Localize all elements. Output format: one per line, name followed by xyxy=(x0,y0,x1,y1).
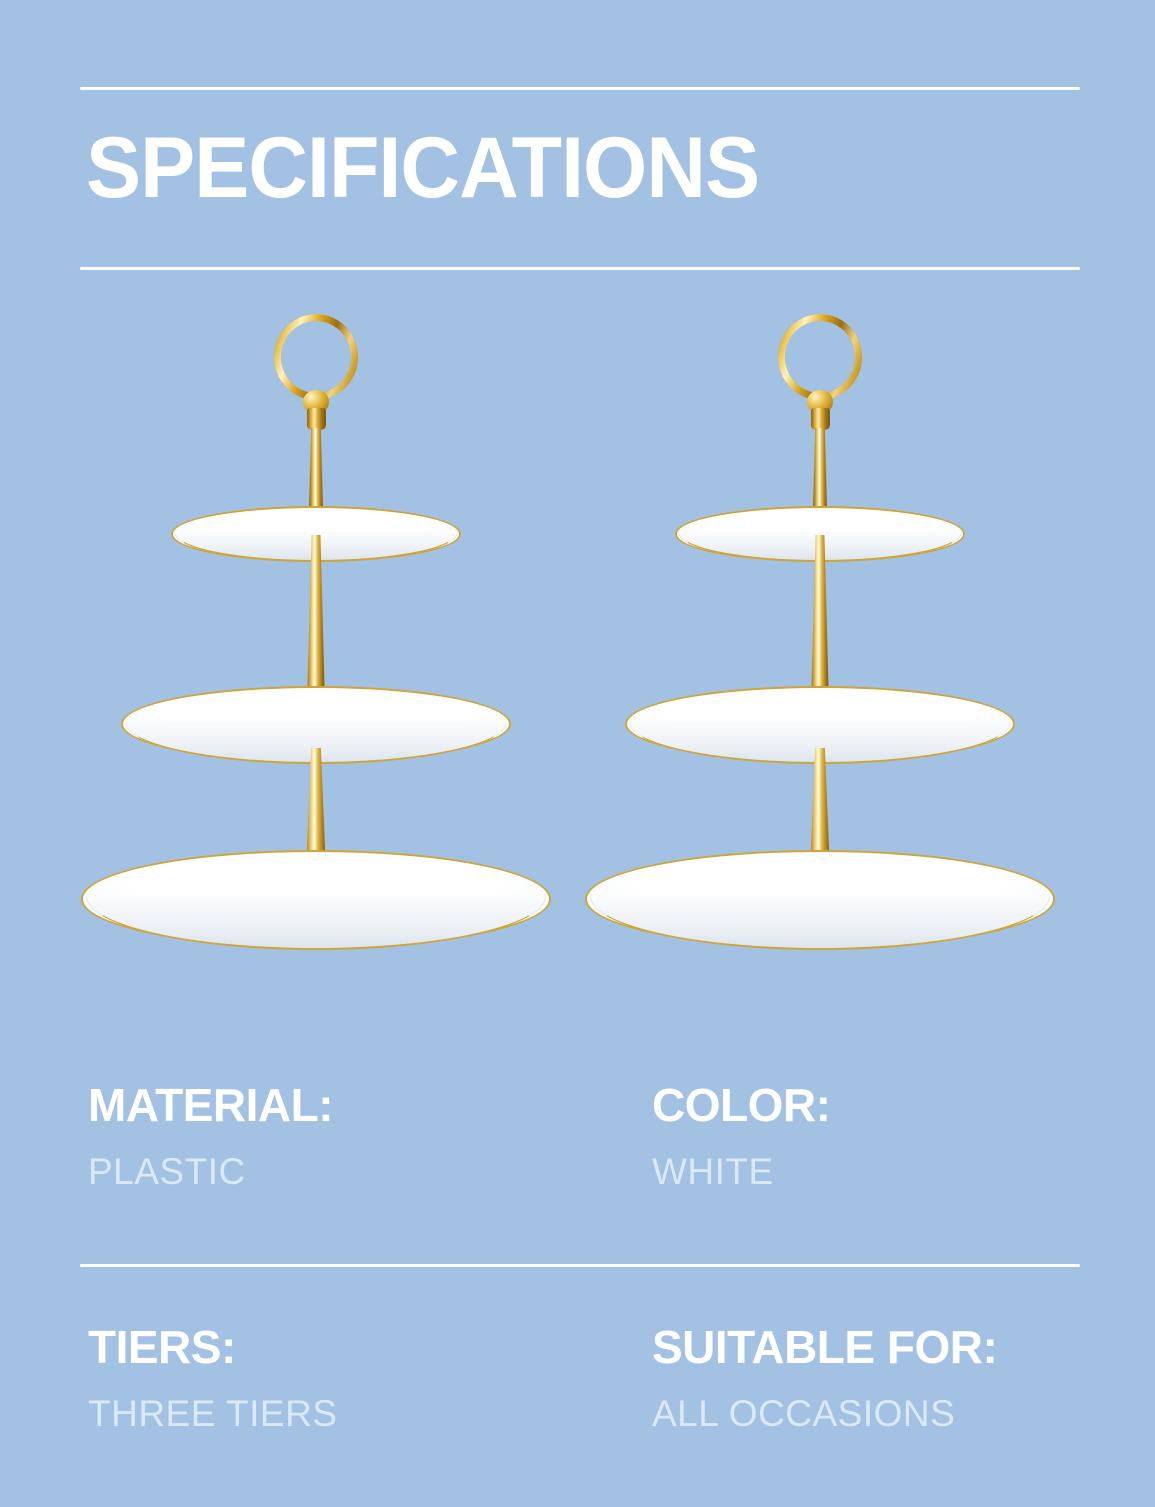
spec-tiers: TIERS: THREE TIERS xyxy=(88,1320,337,1436)
plate-tier-bottom xyxy=(585,850,1055,948)
handle-collar xyxy=(307,408,326,430)
specs-grid: MATERIAL: PLASTIC COLOR: WHITE TIERS: TH… xyxy=(0,1078,1155,1507)
divider-between-spec-rows xyxy=(80,1264,1080,1267)
spec-suitable-for: SUITABLE FOR: ALL OCCASIONS xyxy=(652,1320,997,1436)
spec-color: COLOR: WHITE xyxy=(652,1078,830,1194)
cake-stand-right xyxy=(570,290,1070,1020)
spec-label: SUITABLE FOR: xyxy=(652,1320,997,1374)
plate-tier-bottom xyxy=(81,850,551,948)
divider-under-title xyxy=(80,267,1080,270)
page-title: SPECIFICATIONS xyxy=(86,122,759,214)
spec-value: THREE TIERS xyxy=(88,1392,337,1436)
product-image xyxy=(0,290,1155,1020)
spec-label: COLOR: xyxy=(652,1078,830,1132)
spec-label: MATERIAL: xyxy=(88,1078,333,1132)
spec-row-2: TIERS: THREE TIERS SUITABLE FOR: ALL OCC… xyxy=(0,1320,1155,1507)
spec-value: WHITE xyxy=(652,1150,830,1194)
spec-material: MATERIAL: PLASTIC xyxy=(88,1078,333,1194)
handle-collar xyxy=(811,408,830,430)
plate-wall xyxy=(86,896,547,950)
cake-stand-left xyxy=(66,290,566,1020)
spec-row-1: MATERIAL: PLASTIC COLOR: WHITE xyxy=(0,1078,1155,1265)
divider-top xyxy=(80,87,1080,90)
gold-ring-handle-icon xyxy=(274,314,358,400)
gold-ring-handle-icon xyxy=(778,314,862,400)
spec-value: ALL OCCASIONS xyxy=(652,1392,997,1436)
plate-wall xyxy=(590,896,1051,950)
spec-label: TIERS: xyxy=(88,1320,337,1374)
spec-value: PLASTIC xyxy=(88,1150,333,1194)
